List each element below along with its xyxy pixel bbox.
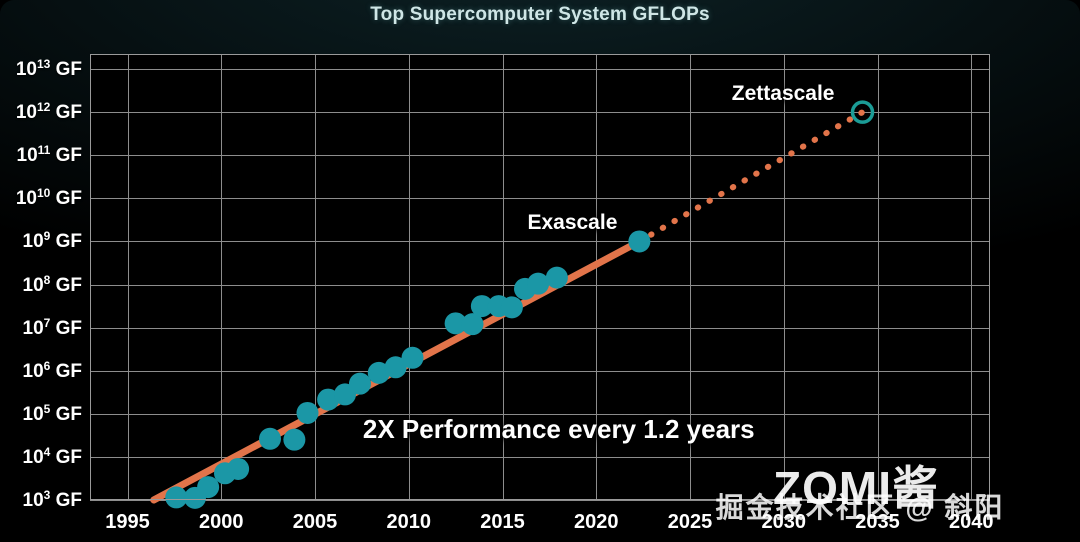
data-point: [259, 428, 281, 450]
x-tick-label: 1995: [105, 511, 150, 534]
data-point: [197, 476, 219, 498]
data-point: [283, 429, 305, 451]
data-point: [227, 458, 249, 480]
gridline-horizontal: [90, 500, 990, 501]
x-tick-label: 2000: [199, 511, 244, 534]
data-point: [297, 402, 319, 424]
data-point: [402, 347, 424, 369]
x-tick-label: 2015: [480, 511, 525, 534]
data-point: [628, 230, 650, 252]
annotation-performance-note: 2X Performance every 1.2 years: [363, 414, 755, 445]
data-point: [349, 373, 371, 395]
data-points-group: [165, 102, 872, 509]
x-tick-label: 2030: [762, 511, 807, 534]
x-tick-label: 2020: [574, 511, 619, 534]
x-tick-label: 2010: [387, 511, 432, 534]
chart-root: Top Supercomputer System GFLOPs 103 GF10…: [0, 0, 1080, 542]
data-point: [165, 486, 187, 508]
x-tick-label: 2035: [855, 511, 900, 534]
data-point: [546, 267, 568, 289]
data-point: [527, 273, 549, 295]
data-point: [501, 296, 523, 318]
trend-line-dotted: [639, 112, 862, 241]
x-tick-label: 2005: [293, 511, 338, 534]
annotation-zettascale: Zettascale: [732, 82, 835, 106]
annotation-exascale: Exascale: [527, 211, 617, 235]
x-tick-label: 2025: [668, 511, 713, 534]
x-tick-label: 2040: [949, 511, 994, 534]
